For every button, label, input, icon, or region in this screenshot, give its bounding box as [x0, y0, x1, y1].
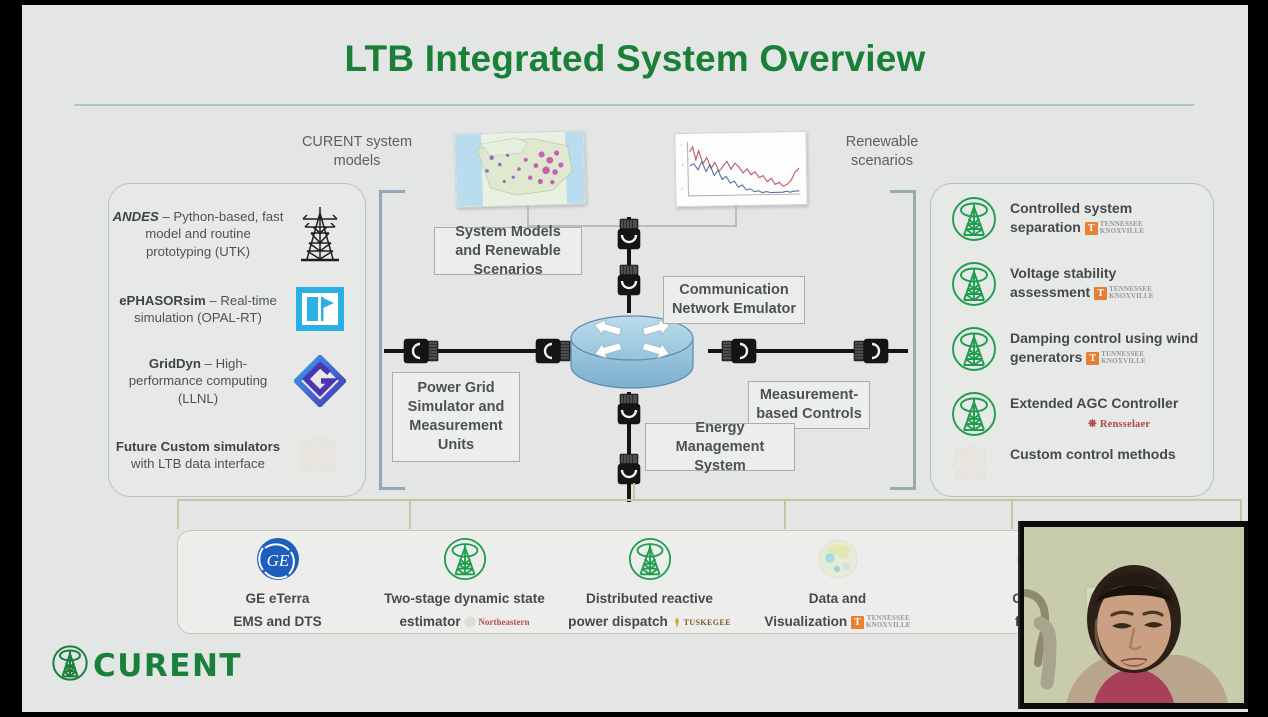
presenter-webcam-overlay[interactable] — [1018, 521, 1248, 709]
label-renewable-scenarios: Renewable scenarios — [822, 133, 942, 171]
label-curent-system-models: CURENT system models — [292, 133, 422, 171]
right-item-label: Voltage stability assessment TTENNESSEEK… — [1002, 260, 1200, 302]
ephasorsim-name: ePHASORsim — [119, 293, 205, 308]
dataviz-line2-text: Visualization — [764, 614, 847, 629]
webcam-video-feed — [1024, 527, 1244, 703]
future-custom-name: Future Custom simulators — [116, 439, 280, 454]
extended-agc-controller-label: Extended AGC Controller — [1010, 395, 1178, 411]
screen: LTB Integrated System Overview CURENT sy… — [0, 0, 1268, 717]
right-item-label: Controlled system separation TTENNESSEEK… — [1002, 195, 1200, 237]
curent-tower-icon — [946, 325, 1002, 373]
ge-eterra-line2: EMS and DTS — [190, 612, 365, 631]
title-divider — [74, 104, 1194, 106]
right-panel-row-extended-agc-controller: Extended AGC Controller ❋ Rensselaer — [946, 390, 1208, 438]
right-panel-row-custom-control-methods: Custom control methods — [946, 441, 1208, 487]
svg-text:.5: .5 — [681, 163, 684, 167]
estimator-line2: estimator Northeastern — [377, 612, 552, 632]
right-panel-row-controlled-system-separation: Controlled system separation TTENNESSEEK… — [946, 195, 1208, 243]
curent-footer-logo: CURENT — [50, 642, 242, 689]
ethernet-cable-bottom — [617, 392, 641, 502]
rensselaer-logo-icon: ❋ Rensselaer — [1088, 415, 1150, 434]
curent-tower-icon — [562, 533, 737, 585]
andes-text: ANDES – Python-based, fast model and rou… — [112, 208, 284, 261]
tuskegee-logo-icon: TUSKEGEE — [672, 613, 731, 632]
dataviz-line1: Data and — [750, 589, 925, 608]
curent-tower-icon — [946, 260, 1002, 308]
ge-eterra-line1: GE eTerra — [190, 589, 365, 608]
tennessee-logo-icon: TTENNESSEEKNOXVILLE — [1086, 351, 1146, 365]
curent-tower-logo-icon — [50, 642, 90, 689]
us-map-thumbnail — [454, 130, 586, 207]
future-custom-desc: with LTB data interface — [131, 456, 265, 471]
dispatch-line2-text: power dispatch — [568, 614, 668, 629]
right-item-label: Extended AGC Controller ❋ Rensselaer — [1002, 390, 1208, 434]
griddyn-name: GridDyn — [149, 356, 201, 371]
system-models-box: System Models and Renewable Scenarios — [434, 227, 582, 275]
northeastern-logo-icon: Northeastern — [464, 613, 529, 632]
puzzle-piece-icon — [946, 441, 1002, 487]
bottom-item-two-stage-estimator[interactable]: Two-stage dynamic state estimator Northe… — [377, 533, 552, 632]
ethernet-cable-right — [708, 338, 908, 364]
puzzle-piece-icon — [284, 430, 356, 480]
bottom-item-data-visualization[interactable]: Data and Visualization TTENNESSEEKNOXVIL… — [750, 533, 925, 631]
ethernet-cable-top — [617, 217, 641, 313]
page-title: LTB Integrated System Overview — [22, 38, 1248, 80]
tennessee-logo-icon: TTENNESSEEKNOXVILLE — [1085, 221, 1145, 235]
andes-desc: – Python-based, fast model and routine p… — [145, 209, 283, 259]
energy-management-system-box: Energy Management System — [645, 423, 795, 471]
curent-tower-icon — [946, 195, 1002, 243]
curent-tower-icon — [946, 390, 1002, 438]
right-panel-row-damping-control: Damping control using wind generators TT… — [946, 325, 1208, 373]
ge-logo-icon: GE — [190, 533, 365, 585]
right-item-label: Damping control using wind generators TT… — [1002, 325, 1208, 367]
power-grid-simulator-box: Power Grid Simulator and Measurement Uni… — [392, 372, 520, 462]
griddyn-logo-icon — [284, 355, 356, 407]
transmission-tower-icon — [284, 203, 356, 265]
right-panel-row-voltage-stability-assessment: Voltage stability assessment TTENNESSEEK… — [946, 260, 1208, 308]
griddyn-text: GridDyn – High-performance computing (LL… — [112, 355, 284, 408]
andes-name: ANDES — [113, 209, 159, 224]
tennessee-logo-icon: TTENNESSEEKNOXVILLE — [851, 615, 911, 629]
communication-network-emulator-box: Communication Network Emulator — [663, 276, 805, 324]
left-panel-row-ephasorsim: ePHASORsim – Real-time simulation (OPAL-… — [112, 277, 360, 341]
right-item-label: Custom control methods — [1002, 441, 1200, 464]
custom-control-methods-label: Custom control methods — [1010, 446, 1176, 462]
ethernet-cable-left — [384, 338, 584, 364]
globe-icon — [750, 533, 925, 585]
svg-text:GE: GE — [266, 551, 289, 570]
left-panel-row-future-custom: Future Custom simulators with LTB data i… — [112, 423, 360, 487]
dispatch-line2: power dispatch TUSKEGEE — [562, 612, 737, 632]
ephasorsim-text: ePHASORsim – Real-time simulation (OPAL-… — [112, 292, 284, 327]
estimator-line1: Two-stage dynamic state — [377, 589, 552, 608]
opal-rt-logo-icon — [284, 285, 356, 333]
curent-tower-icon — [377, 533, 552, 585]
curent-wordmark: CURENT — [93, 648, 242, 684]
tennessee-logo-icon: TTENNESSEEKNOXVILLE — [1094, 286, 1154, 300]
dispatch-line1: Distributed reactive — [562, 589, 737, 608]
bottom-item-reactive-power-dispatch[interactable]: Distributed reactive power dispatch TUSK… — [562, 533, 737, 632]
future-custom-text: Future Custom simulators with LTB data i… — [112, 438, 284, 473]
bottom-item-ge-eterra[interactable]: GE GE eTerra EMS and DTS — [190, 533, 365, 631]
estimator-line2-text: estimator — [400, 614, 461, 629]
dataviz-line2: Visualization TTENNESSEEKNOXVILLE — [750, 612, 925, 631]
left-panel-row-griddyn: GridDyn – High-performance computing (LL… — [112, 349, 360, 413]
renewable-timeseries-thumbnail: 1.50 — [674, 131, 807, 207]
left-panel-row-andes: ANDES – Python-based, fast model and rou… — [112, 197, 360, 271]
